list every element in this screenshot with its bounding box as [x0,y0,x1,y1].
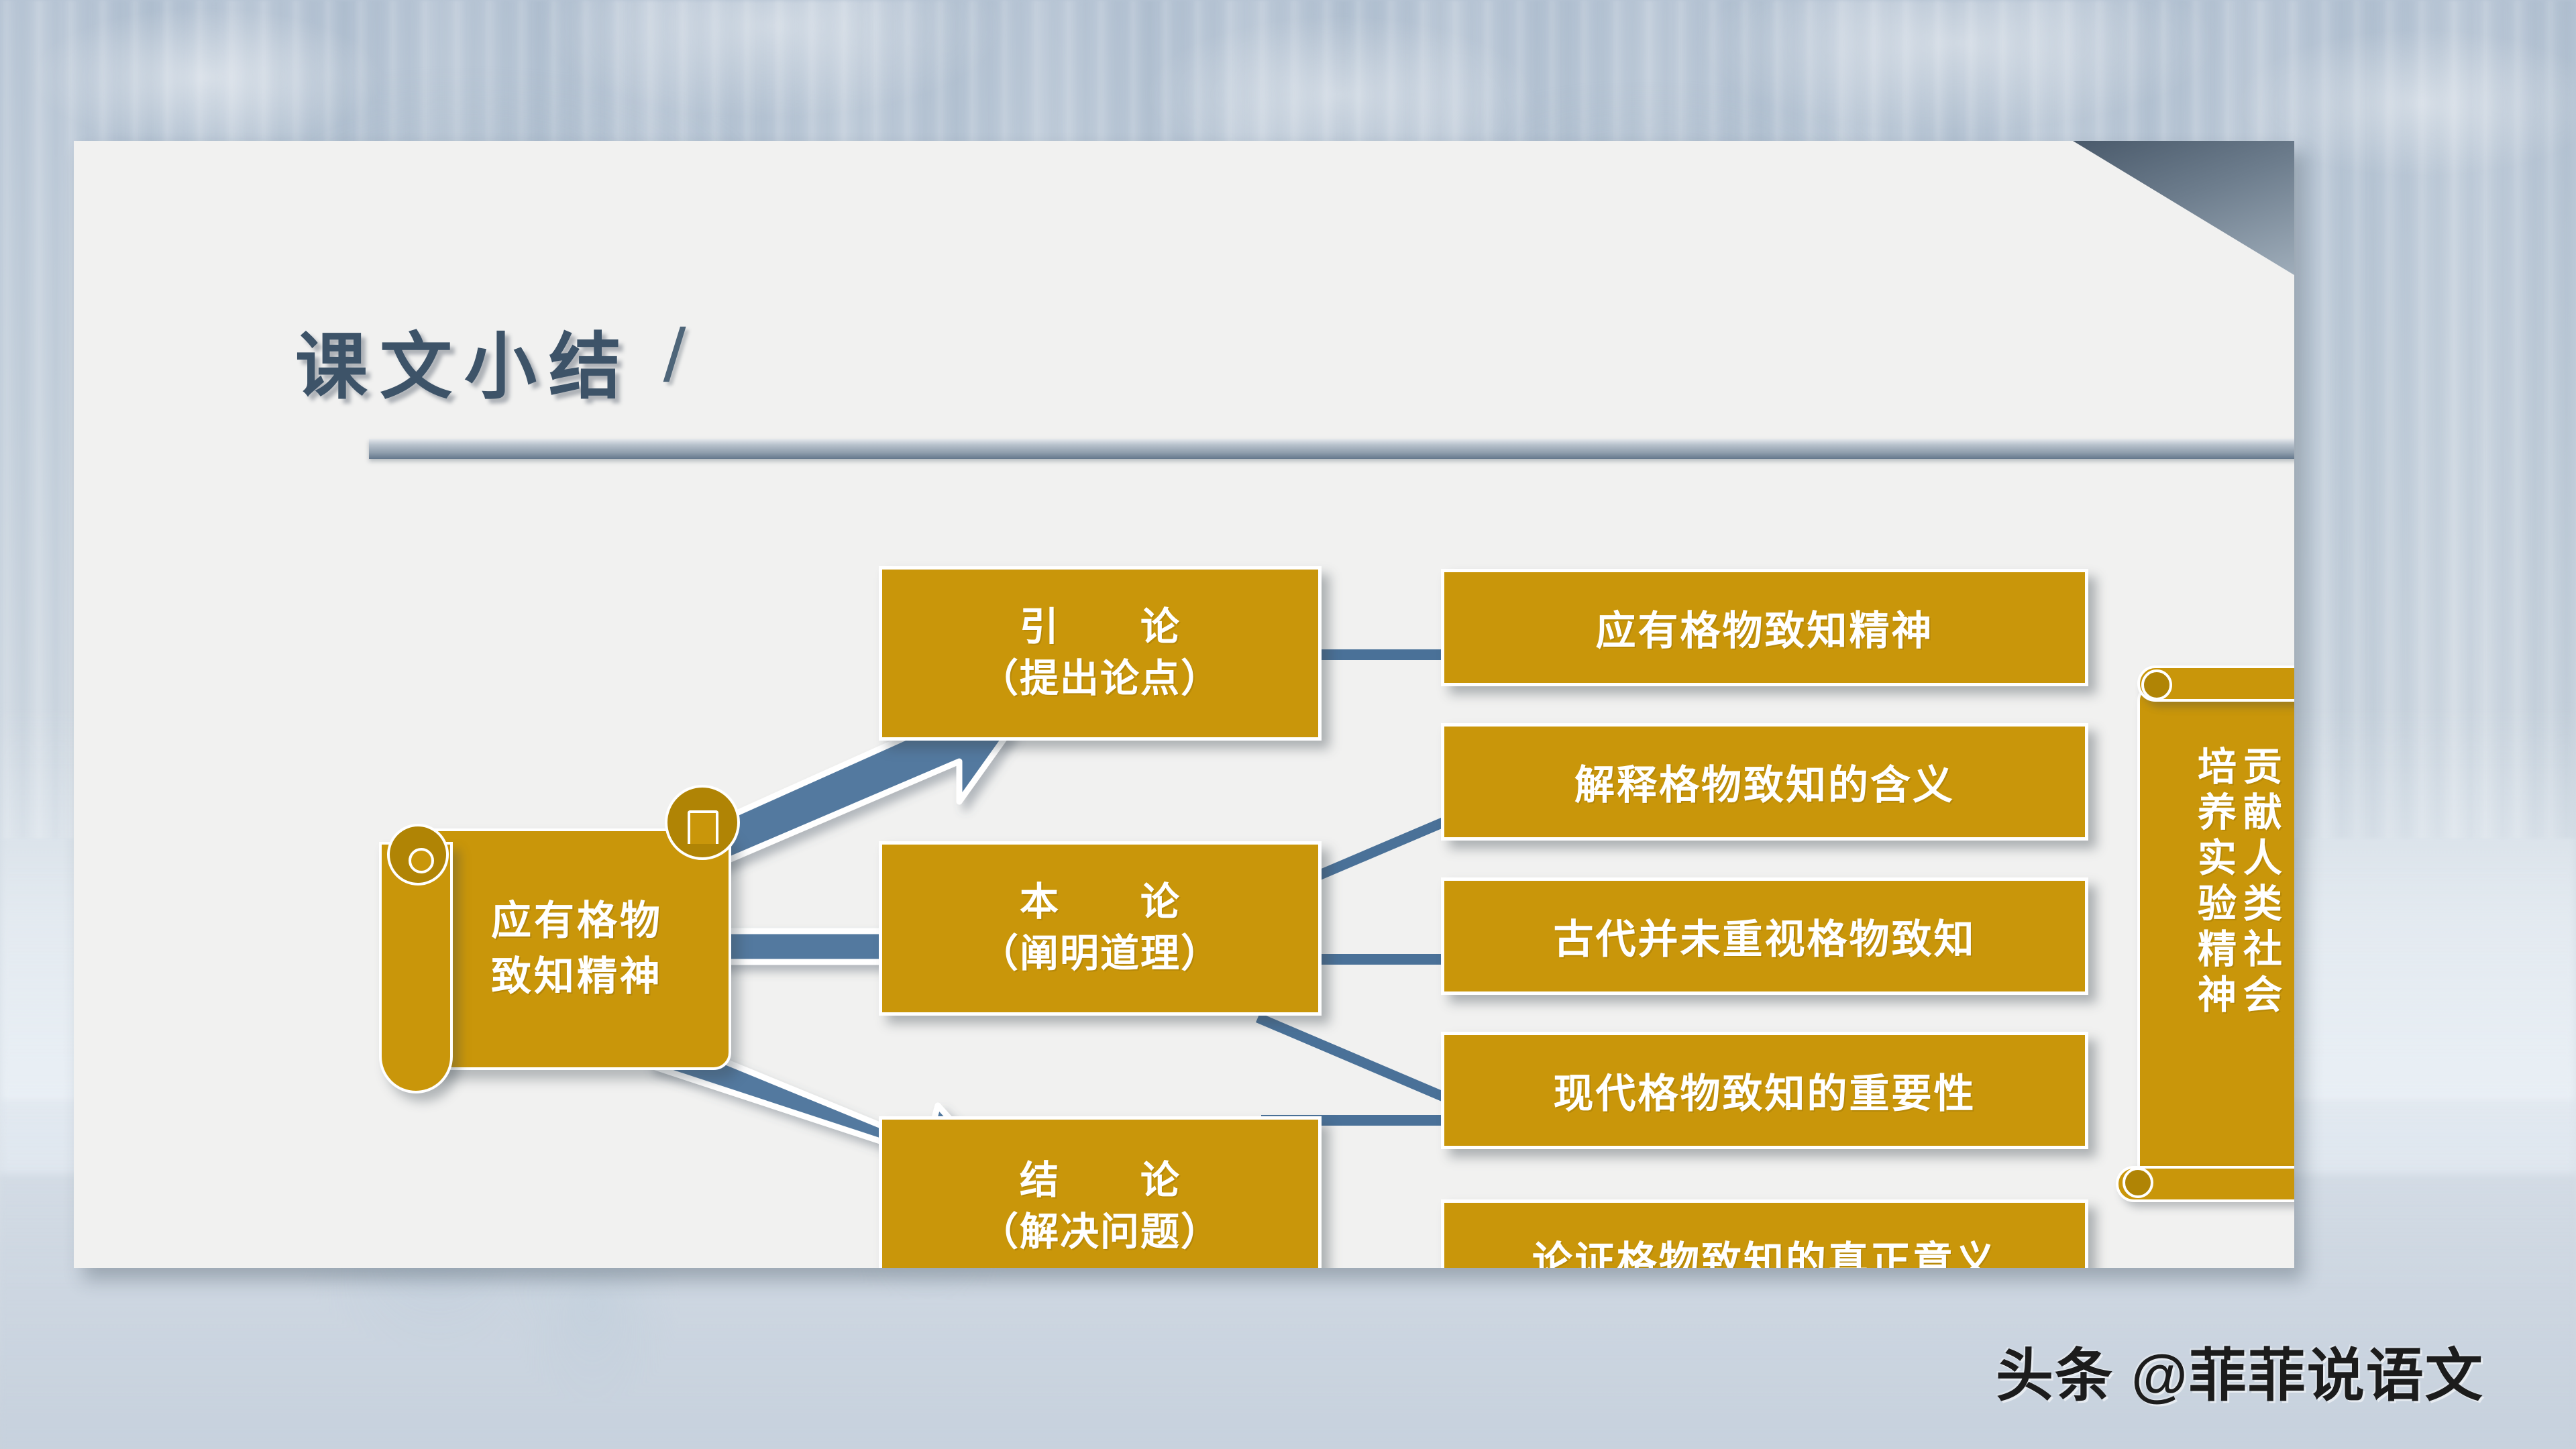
detail-box-3[interactable]: 古代并未重视格物致知 [1441,877,2088,995]
watermark-handle: 头条 @菲菲说语文 [1996,1328,2484,1412]
root-line-2: 致知精神 [491,949,663,1005]
title-slash-decoration: / [663,312,687,398]
detail-box-1[interactable]: 应有格物致知精神 [1441,569,2088,686]
middle-box-heading: 结 论 [1020,1155,1181,1207]
outcome-column-right: 贡献人类社会 [2239,746,2278,1135]
outcome-column-left: 培养实验精神 [2194,746,2233,1135]
middle-box-body[interactable]: 本 论 （阐明道理） [879,841,1322,1016]
detail-box-5[interactable]: 论证格物致知的真正意义 [1441,1199,2088,1268]
scroll-curl-top-icon [2141,669,2172,700]
root-scroll-node[interactable]: 应有格物 致知精神 [379,805,735,1093]
root-scroll-label: 应有格物 致知精神 [426,845,728,1053]
middle-box-sub: （阐明道理） [979,928,1221,980]
middle-box-sub: （解决问题） [979,1207,1221,1258]
detail-box-4[interactable]: 现代格物致知的重要性 [1441,1032,2088,1149]
title-underline-bar [369,439,2294,459]
scroll-curl-bottom-icon [2123,1167,2153,1198]
middle-box-conclusion[interactable]: 结 论 （解决问题） [879,1116,1322,1268]
slide-card: 课文小结 / 应有格物 致知精神 引 论 （提出论点） 本 论 （阐明道理） 结… [74,141,2294,1268]
middle-box-heading: 引 论 [1020,602,1181,653]
middle-box-introduction[interactable]: 引 论 （提出论点） [879,566,1322,741]
corner-fold-decoration [2073,141,2294,275]
outcome-scroll-label: 贡献人类社会 培养实验精神 [2145,746,2294,1135]
page-title: 课文小结 [295,309,633,413]
root-line-1: 应有格物 [491,894,663,949]
detail-box-2[interactable]: 解释格物致知的含义 [1441,723,2088,841]
middle-box-sub: （提出论点） [979,653,1221,705]
middle-box-heading: 本 论 [1020,877,1181,928]
outcome-scroll-node[interactable]: 贡献人类社会 培养实验精神 [2118,665,2294,1202]
